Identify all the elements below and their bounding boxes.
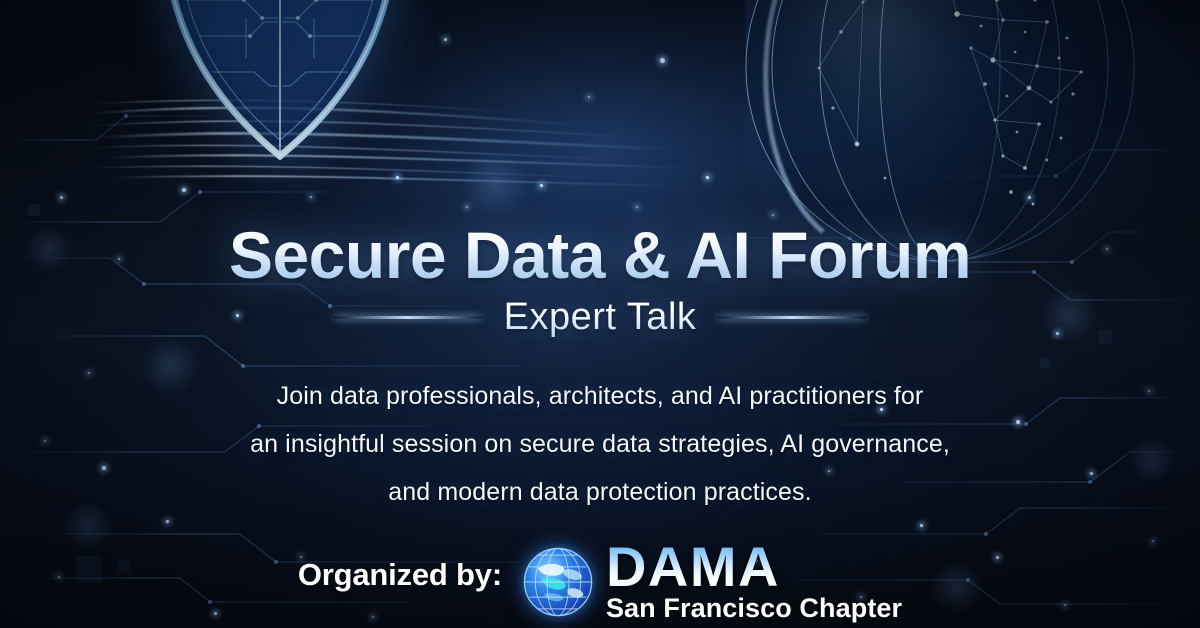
- organized-by-label: Organized by:: [298, 557, 502, 593]
- description-line-3: and modern data protection practices.: [0, 468, 1200, 516]
- organizer-row: Organized by:: [0, 540, 1200, 624]
- content-layer: Secure Data & AI Forum Expert Talk Join …: [0, 0, 1200, 628]
- dama-logo-lockup: DAMA San Francisco Chapter: [516, 540, 902, 624]
- chapter-name: San Francisco Chapter: [606, 594, 902, 624]
- page-title: Secure Data & AI Forum: [0, 222, 1200, 288]
- dama-wordmark: DAMA San Francisco Chapter: [606, 540, 902, 624]
- description-line-2: an insightful session on secure data str…: [0, 420, 1200, 468]
- divider-line-right: [718, 316, 866, 319]
- promo-banner: Secure Data & AI Forum Expert Talk Join …: [0, 0, 1200, 628]
- page-subtitle: Expert Talk: [504, 297, 697, 339]
- divider-line-left: [334, 316, 482, 319]
- globe-icon: [516, 540, 600, 624]
- description-text: Join data professionals, architects, and…: [0, 372, 1200, 516]
- brand-name: DAMA: [606, 540, 780, 593]
- subtitle-row: Expert Talk: [0, 297, 1200, 339]
- description-line-1: Join data professionals, architects, and…: [0, 372, 1200, 420]
